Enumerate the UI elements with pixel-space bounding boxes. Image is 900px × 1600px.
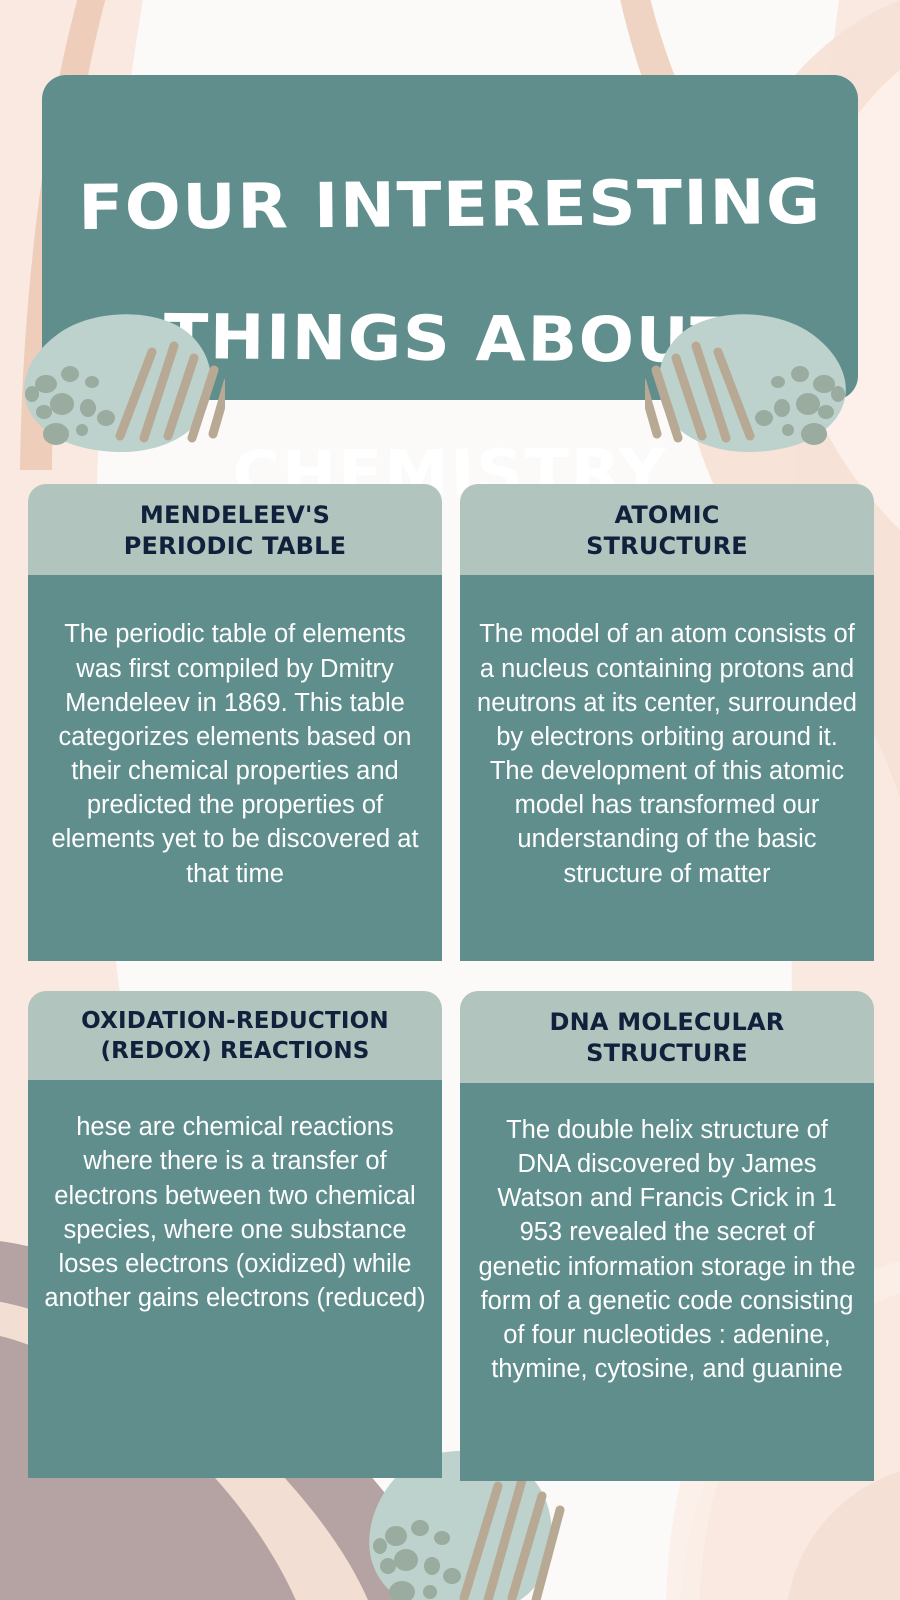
facts-grid: Mendeleev's Periodic Table The periodic … xyxy=(28,484,874,1481)
fact-card-atomic-structure: Atomic Structure The model of an atom co… xyxy=(460,484,874,961)
fact-card-body: The model of an atom consists of a nucle… xyxy=(460,575,874,961)
title-line-1: Four Interesting xyxy=(45,169,855,243)
fact-card-body: The double helix structure of DNA discov… xyxy=(460,1083,874,1481)
fact-card-header: Oxidation-Reduction (Redox) Reactions xyxy=(28,991,442,1080)
fact-card-body: The periodic table of elements was first… xyxy=(28,575,442,961)
facts-row-1: Mendeleev's Periodic Table The periodic … xyxy=(28,484,874,961)
facts-row-2: Oxidation-Reduction (Redox) Reactions he… xyxy=(28,991,874,1480)
fact-card-oxidation-reduction-redox-reactions: Oxidation-Reduction (Redox) Reactions he… xyxy=(28,991,442,1478)
title-line-2: Things About xyxy=(49,303,852,375)
infographic-poster: Four Interesting Things About Chemistry xyxy=(0,0,900,1600)
fact-card-header: Mendeleev's Periodic Table xyxy=(28,484,442,575)
fact-card-mendeleevs-periodic-table: Mendeleev's Periodic Table The periodic … xyxy=(28,484,442,961)
fact-card-header: Atomic Structure xyxy=(460,484,874,575)
fact-card-body: hese are chemical reactions where there … xyxy=(28,1080,442,1478)
fact-card-dna-molecular-structure: DNA Molecular Structure The double helix… xyxy=(460,991,874,1480)
fact-card-header: DNA Molecular Structure xyxy=(460,991,874,1082)
poster-title-bar: Four Interesting Things About Chemistry xyxy=(42,75,858,400)
